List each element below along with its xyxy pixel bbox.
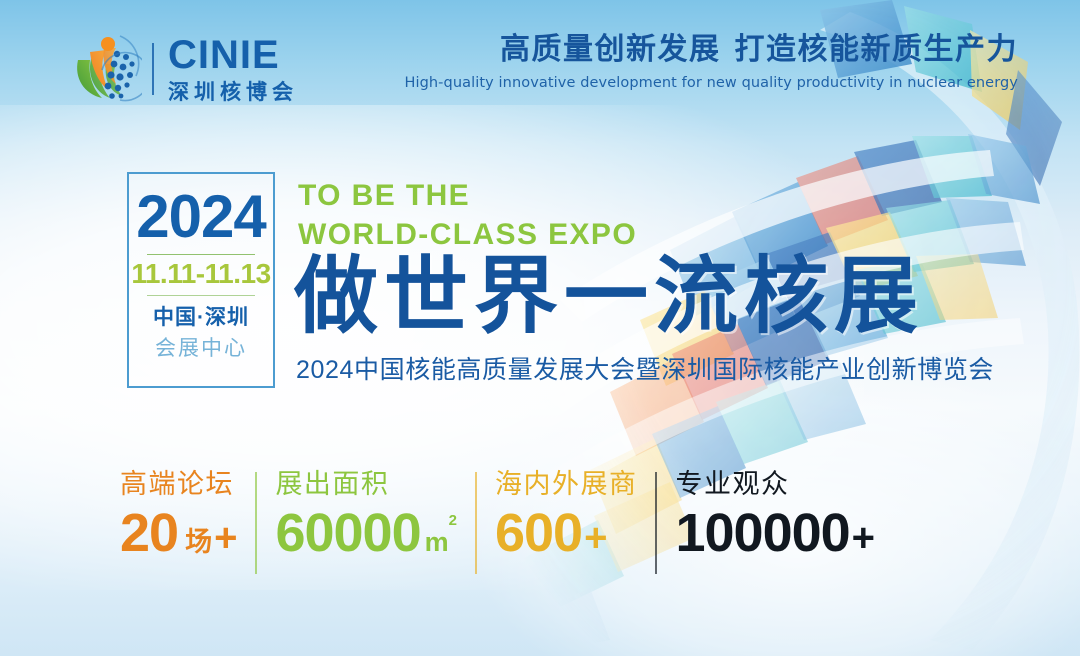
stat-value: 60000m2 xyxy=(275,506,457,560)
stat-number: 100000 xyxy=(675,506,849,560)
event-venue: 会展中心 xyxy=(155,335,247,362)
tagline-english: High-quality innovative development for … xyxy=(404,75,1018,91)
date-divider-top xyxy=(147,254,255,256)
brand-logo: CINIE 深圳核博会 xyxy=(62,30,298,108)
stat-label: 专业观众 xyxy=(675,470,875,500)
stat-plus-sign: + xyxy=(584,518,607,558)
stat-number: 20 xyxy=(120,506,178,560)
stat-number: 600 xyxy=(495,506,582,560)
tagline-chinese-part2: 打造核能新质生产力 xyxy=(735,33,1019,66)
stat-divider xyxy=(655,472,657,574)
event-city: 中国·深圳 xyxy=(153,305,249,331)
event-date-range: 11.11-11.13 xyxy=(131,259,270,288)
stat-plus-sign: + xyxy=(852,518,875,558)
stat-item: 海内外展商600+ xyxy=(457,470,638,574)
stats-row: 高端论坛20场+展出面积60000m2海内外展商600+专业观众100000+ xyxy=(120,470,875,580)
stat-body: 高端论坛20场+ xyxy=(120,470,237,574)
banner-tagline: 高质量创新发展打造核能新质生产力 High-quality innovative… xyxy=(404,33,1018,91)
stat-body: 专业观众100000+ xyxy=(675,470,875,574)
stat-unit-exponent: 2 xyxy=(449,512,457,529)
headline-english-line1: TO BE THE xyxy=(298,176,637,215)
headline-chinese: 做世界一流核展 xyxy=(294,254,924,338)
expo-promo-banner: CINIE 深圳核博会 高质量创新发展打造核能新质生产力 High-qualit… xyxy=(0,0,1080,656)
stat-value: 600+ xyxy=(495,506,638,560)
date-venue-box: 2024 11.11-11.13 中国·深圳 会展中心 xyxy=(127,172,275,388)
tagline-chinese-part1: 高质量创新发展 xyxy=(500,33,721,66)
logo-name-cn: 深圳核博会 xyxy=(168,82,298,103)
stat-label: 展出面积 xyxy=(275,470,457,500)
stat-unit: m2 xyxy=(425,529,457,556)
logo-divider xyxy=(152,43,154,95)
stat-label: 海内外展商 xyxy=(495,470,638,500)
stat-number: 60000 xyxy=(275,506,420,560)
logo-name: CINIE xyxy=(168,35,298,75)
tagline-chinese: 高质量创新发展打造核能新质生产力 xyxy=(404,33,1018,68)
cinie-globe-leaf-logo-icon xyxy=(62,30,142,108)
stat-body: 海内外展商600+ xyxy=(495,470,638,574)
stat-unit: 场 xyxy=(185,529,212,556)
stat-label: 高端论坛 xyxy=(120,470,237,500)
stat-plus-sign: + xyxy=(214,518,237,558)
stat-value: 20场+ xyxy=(120,506,237,560)
logo-wordmark: CINIE 深圳核博会 xyxy=(168,35,298,103)
stat-divider xyxy=(255,472,257,574)
stat-divider xyxy=(475,472,477,574)
headline-english: TO BE THE WORLD-CLASS EXPO xyxy=(298,176,637,254)
stat-item: 高端论坛20场+ xyxy=(120,470,237,574)
stat-body: 展出面积60000m2 xyxy=(275,470,457,574)
headline-subtitle: 2024中国核能高质量发展大会暨深圳国际核能产业创新博览会 xyxy=(296,355,994,385)
date-divider-bottom xyxy=(147,295,255,297)
banner-header: CINIE 深圳核博会 高质量创新发展打造核能新质生产力 High-qualit… xyxy=(0,0,1080,120)
stat-item: 展出面积60000m2 xyxy=(237,470,457,574)
stat-item: 专业观众100000+ xyxy=(637,470,875,574)
event-year: 2024 xyxy=(136,188,265,247)
stat-value: 100000+ xyxy=(675,506,875,560)
